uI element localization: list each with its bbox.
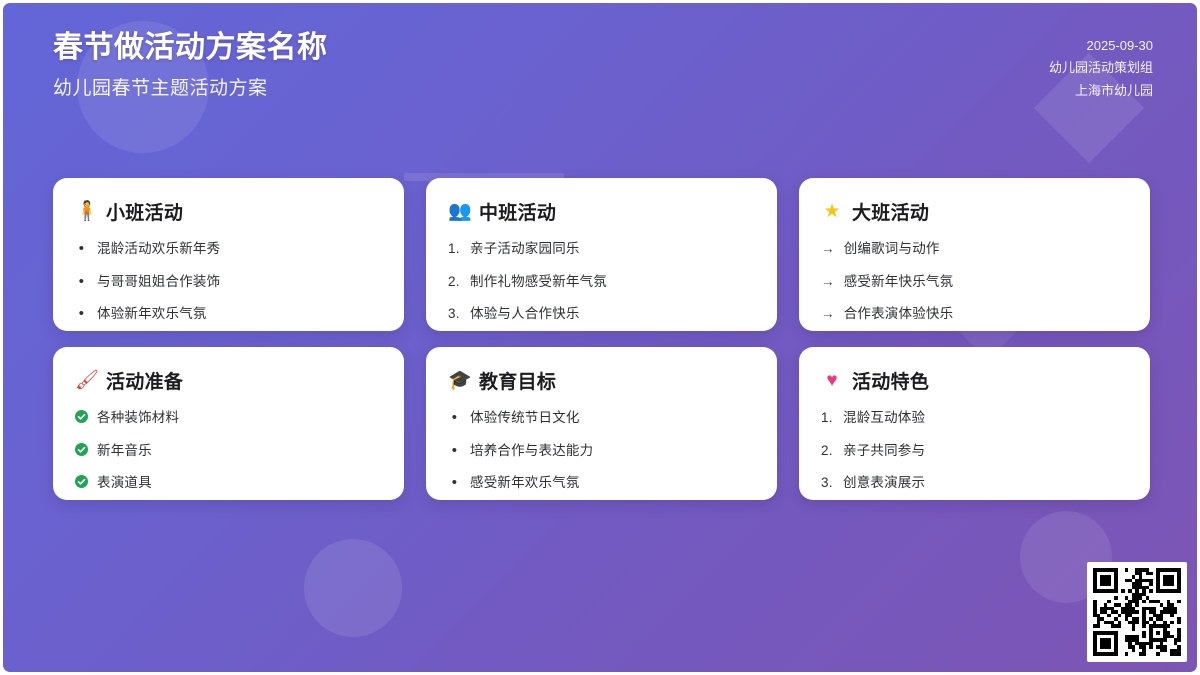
- list-item-text: 混龄活动欢乐新年秀: [97, 239, 220, 259]
- card-list: 1.亲子活动家园同乐2.制作礼物感受新年气氛3.体验与人合作快乐: [448, 239, 755, 324]
- list-item: 表演道具: [75, 473, 382, 493]
- child-icon: 🧍: [75, 202, 97, 221]
- list-marker-check: [75, 441, 88, 461]
- card-header: 🖌活动准备: [75, 367, 382, 394]
- list-marker-ordered: 3.: [448, 304, 461, 324]
- content-card[interactable]: 🎓教育目标•体验传统节日文化•培养合作与表达能力•感受新年欢乐气氛: [426, 347, 777, 500]
- card-list: →创编歌词与动作→感受新年快乐气氛→合作表演体验快乐: [821, 239, 1128, 324]
- slide-header: 春节做活动方案名称 幼儿园春节主题活动方案 2025-09-30 幼儿园活动策划…: [3, 3, 1200, 102]
- card-title: 小班活动: [106, 198, 183, 225]
- content-card[interactable]: ★大班活动→创编歌词与动作→感受新年快乐气氛→合作表演体验快乐: [799, 178, 1150, 331]
- content-card[interactable]: 👥中班活动1.亲子活动家园同乐2.制作礼物感受新年气氛3.体验与人合作快乐: [426, 178, 777, 331]
- card-title: 大班活动: [852, 198, 929, 225]
- list-item-text: 创编歌词与动作: [844, 239, 940, 259]
- list-marker-bullet: •: [448, 408, 461, 428]
- list-item: •与哥哥姐姐合作装饰: [75, 272, 382, 292]
- meta-location: 上海市幼儿园: [1049, 80, 1153, 102]
- heart-icon: ♥: [821, 371, 843, 390]
- qr-code-container[interactable]: [1087, 562, 1187, 662]
- qr-code: [1093, 568, 1181, 656]
- card-title: 活动特色: [852, 367, 929, 394]
- list-item: •感受新年欢乐气氛: [448, 473, 755, 493]
- slide-canvas: 春节做活动方案名称 幼儿园春节主题活动方案 2025-09-30 幼儿园活动策划…: [0, 0, 1200, 675]
- list-item-text: 合作表演体验快乐: [844, 304, 954, 324]
- meta-organization: 幼儿园活动策划组: [1049, 57, 1153, 79]
- list-item-text: 体验传统节日文化: [470, 408, 580, 428]
- content-card[interactable]: ♥活动特色1.混龄互动体验2.亲子共同参与3.创意表演展示: [799, 347, 1150, 500]
- list-marker-check: [75, 473, 88, 493]
- card-title: 活动准备: [106, 367, 183, 394]
- list-item: 1.混龄互动体验: [821, 408, 1128, 428]
- card-header: 🎓教育目标: [448, 367, 755, 394]
- list-marker-bullet: •: [75, 272, 88, 292]
- list-marker-bullet: •: [448, 473, 461, 493]
- graduation-cap-icon: 🎓: [448, 371, 470, 390]
- list-marker-bullet: •: [448, 441, 461, 461]
- list-item-text: 培养合作与表达能力: [470, 441, 593, 461]
- card-list: 1.混龄互动体验2.亲子共同参与3.创意表演展示: [821, 408, 1128, 493]
- list-item-text: 感受新年快乐气氛: [844, 272, 954, 292]
- header-meta-block: 2025-09-30 幼儿园活动策划组 上海市幼儿园: [1049, 29, 1153, 102]
- list-item: →合作表演体验快乐: [821, 304, 1128, 324]
- list-item: 1.亲子活动家园同乐: [448, 239, 755, 259]
- card-list: 各种装饰材料新年音乐表演道具: [75, 408, 382, 493]
- list-item: •混龄活动欢乐新年秀: [75, 239, 382, 259]
- list-item: •培养合作与表达能力: [448, 441, 755, 461]
- list-item-text: 表演道具: [97, 473, 152, 493]
- list-item-text: 各种装饰材料: [97, 408, 179, 428]
- list-marker-arrow: →: [821, 272, 835, 292]
- page-title: 春节做活动方案名称: [53, 29, 328, 67]
- list-item: →创编歌词与动作: [821, 239, 1128, 259]
- card-list: •体验传统节日文化•培养合作与表达能力•感受新年欢乐气氛: [448, 408, 755, 493]
- list-item-text: 感受新年欢乐气氛: [470, 473, 580, 493]
- list-item: 新年音乐: [75, 441, 382, 461]
- list-marker-bullet: •: [75, 239, 88, 259]
- card-grid: 🧍小班活动•混龄活动欢乐新年秀•与哥哥姐姐合作装饰•体验新年欢乐气氛👥中班活动1…: [53, 178, 1153, 500]
- list-marker-bullet: •: [75, 304, 88, 324]
- header-title-block: 春节做活动方案名称 幼儿园春节主题活动方案: [53, 29, 328, 101]
- list-item: 各种装饰材料: [75, 408, 382, 428]
- list-marker-arrow: →: [821, 239, 835, 259]
- card-header: 🧍小班活动: [75, 198, 382, 225]
- list-item: 2.制作礼物感受新年气氛: [448, 272, 755, 292]
- list-item-text: 混龄互动体验: [843, 408, 925, 428]
- card-title: 中班活动: [479, 198, 556, 225]
- list-item-text: 创意表演展示: [843, 473, 925, 493]
- list-item: 3.体验与人合作快乐: [448, 304, 755, 324]
- content-card[interactable]: 🖌活动准备各种装饰材料新年音乐表演道具: [53, 347, 404, 500]
- card-list: •混龄活动欢乐新年秀•与哥哥姐姐合作装饰•体验新年欢乐气氛: [75, 239, 382, 324]
- list-marker-ordered: 1.: [821, 408, 834, 428]
- people-group-icon: 👥: [448, 202, 470, 221]
- list-item: →感受新年快乐气氛: [821, 272, 1128, 292]
- list-item-text: 体验新年欢乐气氛: [97, 304, 207, 324]
- list-item: •体验传统节日文化: [448, 408, 755, 428]
- list-item-text: 新年音乐: [97, 441, 152, 461]
- list-item: •体验新年欢乐气氛: [75, 304, 382, 324]
- list-marker-ordered: 2.: [448, 272, 461, 292]
- paintbrush-icon: 🖌: [75, 371, 97, 390]
- decorative-circle-bottom-left: [304, 539, 402, 637]
- page-subtitle: 幼儿园春节主题活动方案: [53, 77, 328, 102]
- list-item-text: 制作礼物感受新年气氛: [470, 272, 607, 292]
- list-item-text: 与哥哥姐姐合作装饰: [97, 272, 220, 292]
- list-item: 3.创意表演展示: [821, 473, 1128, 493]
- list-item-text: 体验与人合作快乐: [470, 304, 580, 324]
- list-marker-ordered: 1.: [448, 239, 461, 259]
- card-header: ★大班活动: [821, 198, 1128, 225]
- meta-date: 2025-09-30: [1049, 35, 1153, 57]
- card-header: 👥中班活动: [448, 198, 755, 225]
- list-marker-ordered: 2.: [821, 441, 834, 461]
- content-card[interactable]: 🧍小班活动•混龄活动欢乐新年秀•与哥哥姐姐合作装饰•体验新年欢乐气氛: [53, 178, 404, 331]
- star-icon: ★: [821, 202, 843, 221]
- list-marker-arrow: →: [821, 304, 835, 324]
- list-item-text: 亲子共同参与: [843, 441, 925, 461]
- card-title: 教育目标: [479, 367, 556, 394]
- list-marker-ordered: 3.: [821, 473, 834, 493]
- card-header: ♥活动特色: [821, 367, 1128, 394]
- list-item: 2.亲子共同参与: [821, 441, 1128, 461]
- list-marker-check: [75, 408, 88, 428]
- list-item-text: 亲子活动家园同乐: [470, 239, 580, 259]
